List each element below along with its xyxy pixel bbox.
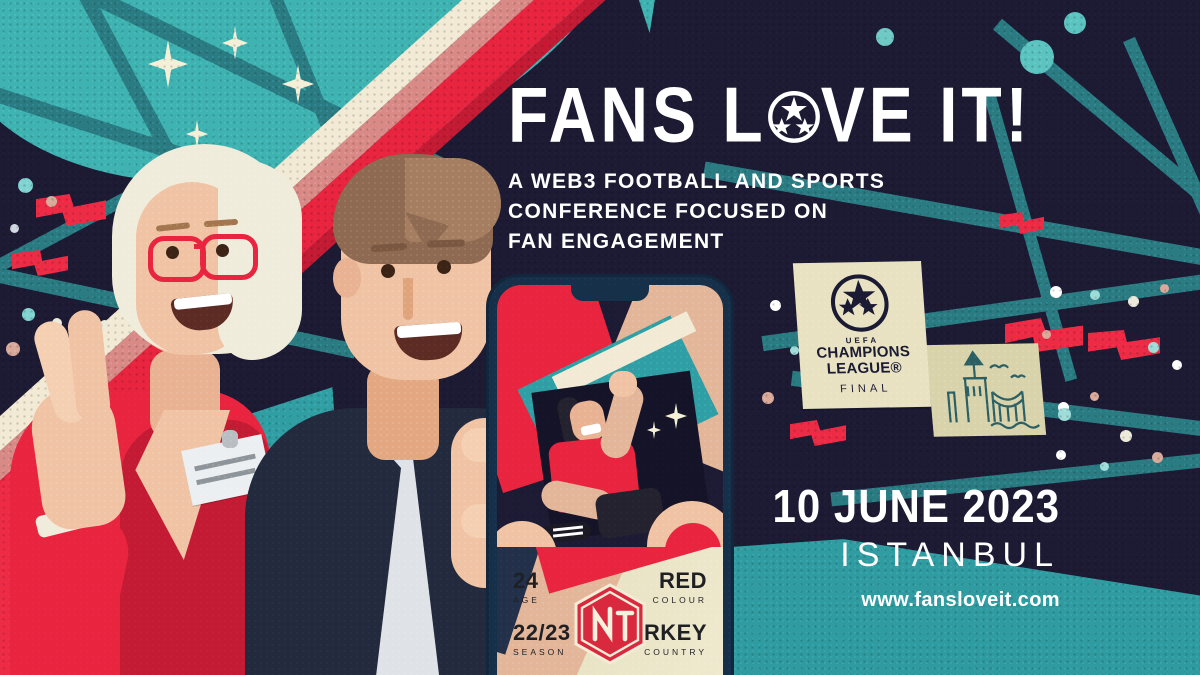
- man-eye: [381, 264, 395, 278]
- confetti-dot: [1050, 286, 1062, 298]
- istanbul-skyline-icon: [926, 343, 1046, 437]
- uefa-starball-icon: [767, 90, 821, 144]
- event-details-block: 10 JUNE 2023 ISTANBUL www.fansloveit.com: [760, 480, 1060, 612]
- subtitle-line: CONFERENCE FOCUSED ON: [508, 197, 1068, 227]
- ucl-competition-line2: LEAGUE®: [826, 360, 902, 377]
- confetti-dot: [1042, 330, 1051, 339]
- nft-attribute-card[interactable]: 24 AGE RED COLOUR 22/23 SEASON TURKEY CO…: [497, 547, 723, 675]
- smartphone[interactable]: 24 AGE RED COLOUR 22/23 SEASON TURKEY CO…: [489, 277, 731, 675]
- confetti-dot: [1020, 40, 1054, 74]
- man-ear: [333, 258, 361, 298]
- woman-eye: [166, 246, 179, 259]
- nft-logo-hexagon[interactable]: [573, 583, 647, 665]
- confetti-dot: [790, 346, 799, 355]
- woman-eyeglasses: [148, 236, 206, 282]
- ucl-stage-label: FINAL: [840, 382, 892, 395]
- confetti-dot: [1120, 430, 1132, 442]
- confetti-dot: [1064, 12, 1086, 34]
- istanbul-skyline-panel: [926, 343, 1046, 437]
- confetti-dot: [1100, 462, 1109, 471]
- confetti-dot: [1172, 360, 1182, 370]
- subtitle-line: FAN ENGAGEMENT: [508, 227, 1068, 257]
- confetti-dot: [1128, 296, 1139, 307]
- confetti-dot: [1090, 392, 1099, 401]
- uefa-champions-league-badge: UEFA CHAMPIONS LEAGUE® FINAL: [793, 261, 931, 409]
- phone-screen[interactable]: 24 AGE RED COLOUR 22/23 SEASON TURKEY CO…: [497, 285, 723, 675]
- phone-notch: [571, 285, 649, 301]
- confetti-dot: [1090, 290, 1100, 300]
- man-nose: [403, 278, 413, 320]
- subtitle: A WEB3 FOOTBALL AND SPORTS CONFERENCE FO…: [508, 167, 1068, 256]
- confetti-dot: [1058, 408, 1071, 421]
- woman-eyeglasses: [200, 234, 258, 280]
- confetti-dot: [1148, 342, 1159, 353]
- man-eye: [437, 260, 451, 274]
- headline-block: FANS LVE IT! A WEB3 FOOTBALL AND SPORTS …: [508, 78, 1068, 257]
- man-eyebrow: [427, 239, 465, 247]
- confetti-dot: [1160, 284, 1169, 293]
- headline-part-1: FANS L: [508, 71, 767, 158]
- poster-canvas: UEFA CHAMPIONS LEAGUE® FINAL: [0, 0, 1200, 675]
- subtitle-line: A WEB3 FOOTBALL AND SPORTS: [508, 167, 1068, 197]
- confetti-dot: [770, 300, 781, 311]
- headline-part-2: VE IT!: [821, 71, 1032, 158]
- confetti-dot: [762, 392, 774, 404]
- name-badge-clip: [222, 430, 238, 448]
- confetti-dot: [876, 28, 894, 46]
- woman-eyeglasses-bridge: [194, 244, 204, 249]
- page-title: FANS LVE IT!: [508, 78, 1068, 153]
- uefa-starball-icon: [829, 274, 891, 333]
- woman-eye: [216, 244, 229, 257]
- event-date: 10 JUNE 2023: [760, 480, 1060, 533]
- event-website-url[interactable]: www.fansloveit.com: [760, 589, 1060, 612]
- event-city: ISTANBUL: [760, 536, 1060, 575]
- player-fist: [609, 371, 637, 397]
- confetti-dot: [1152, 452, 1163, 463]
- confetti-dot: [1056, 450, 1066, 460]
